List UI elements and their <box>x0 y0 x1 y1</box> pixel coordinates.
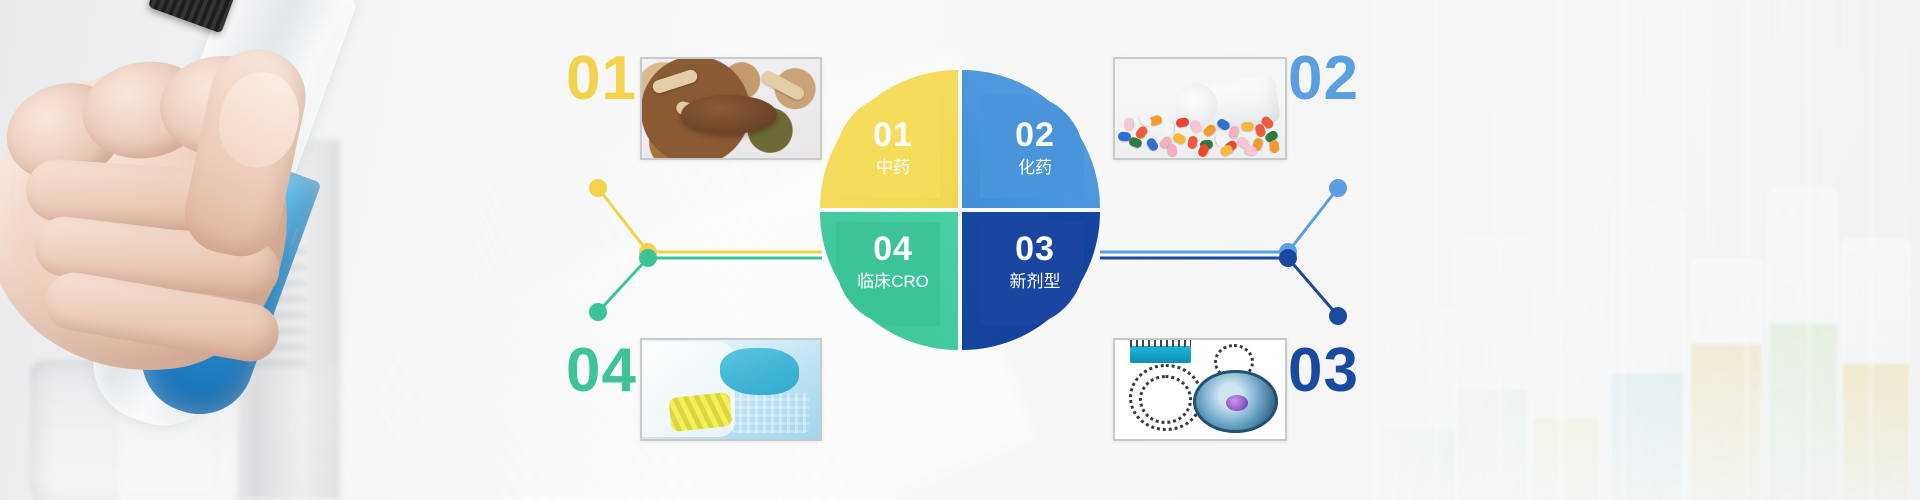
thumbnail-04-lab[interactable] <box>640 338 822 441</box>
wheel-number-03: 03 <box>966 230 1104 268</box>
connector-line-04 <box>598 258 822 312</box>
callout-number-01: 01 <box>566 48 637 110</box>
photo-pill <box>1175 117 1189 128</box>
callout-number-04: 04 <box>566 340 637 402</box>
photo-pill <box>1269 140 1280 154</box>
photo-pill <box>1241 122 1254 131</box>
photo-traditional-chinese-medicine-herbs <box>642 59 820 158</box>
connector-line-03 <box>1100 258 1338 316</box>
wheel-label-04: 04 临床CRO <box>824 230 962 294</box>
photo-pill <box>1244 145 1258 156</box>
photo-pill <box>1167 143 1179 158</box>
wheel-text-01: 中药 <box>824 156 962 180</box>
segment-wheel: 01 中药 02 化药 03 新剂型 04 临床CRO <box>820 70 1100 350</box>
callout-number-03: 03 <box>1288 340 1359 402</box>
wheel-label-03: 03 新剂型 <box>966 230 1104 294</box>
photo-pill <box>1187 136 1198 150</box>
photo-pill <box>1196 143 1210 159</box>
wheel-number-02: 02 <box>966 116 1104 154</box>
photo-pill <box>1124 118 1133 131</box>
connector-dot-04-joint <box>639 249 657 267</box>
thumbnail-03-liposome[interactable] <box>1113 338 1287 441</box>
connector-dot-03-joint <box>1279 249 1297 267</box>
photo-pill <box>1164 122 1174 136</box>
connector-line-02 <box>1100 188 1338 252</box>
thumbnail-01-herbs[interactable] <box>640 57 822 160</box>
photo-pill <box>1145 137 1160 153</box>
thumbnail-02-pills[interactable] <box>1113 57 1287 160</box>
connector-dot-04-outer <box>589 303 607 321</box>
connector-dot-01-outer <box>589 179 607 197</box>
connector-dot-03-outer <box>1329 307 1347 325</box>
wheel-label-02: 02 化药 <box>966 116 1104 180</box>
photo-liposome-drug-delivery-diagram <box>1115 340 1285 439</box>
connector-dot-02-outer <box>1329 179 1347 197</box>
wheel-text-03: 新剂型 <box>966 270 1104 294</box>
wheel-number-04: 04 <box>824 230 962 268</box>
photo-colorful-pills-and-bottle <box>1115 59 1285 158</box>
banner-stage: 10 ml <box>0 0 1920 500</box>
wheel-text-02: 化药 <box>966 156 1104 180</box>
photo-lab-technician-with-pipette-tips <box>642 340 820 439</box>
wheel-text-04: 临床CRO <box>824 270 962 294</box>
connector-line-01 <box>598 188 822 252</box>
wheel-number-01: 01 <box>824 116 962 154</box>
callout-number-02: 02 <box>1288 48 1359 110</box>
wheel-label-01: 01 中药 <box>824 116 962 180</box>
